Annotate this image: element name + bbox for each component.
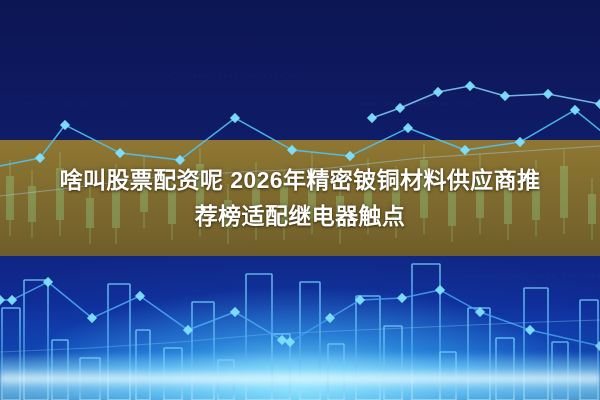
banner-title-block: 啥叫股票配资呢 2026年精密铍铜材料供应商推 荐榜适配继电器触点 xyxy=(0,140,600,256)
banner-title-line-1: 啥叫股票配资呢 2026年精密铍铜材料供应商推 xyxy=(60,162,541,198)
banner-image: · ···· ···· ·· ·· ··· ··· ··· ·· ···· ··… xyxy=(0,0,600,400)
banner-title-line-2: 荐榜适配继电器触点 xyxy=(195,198,406,234)
